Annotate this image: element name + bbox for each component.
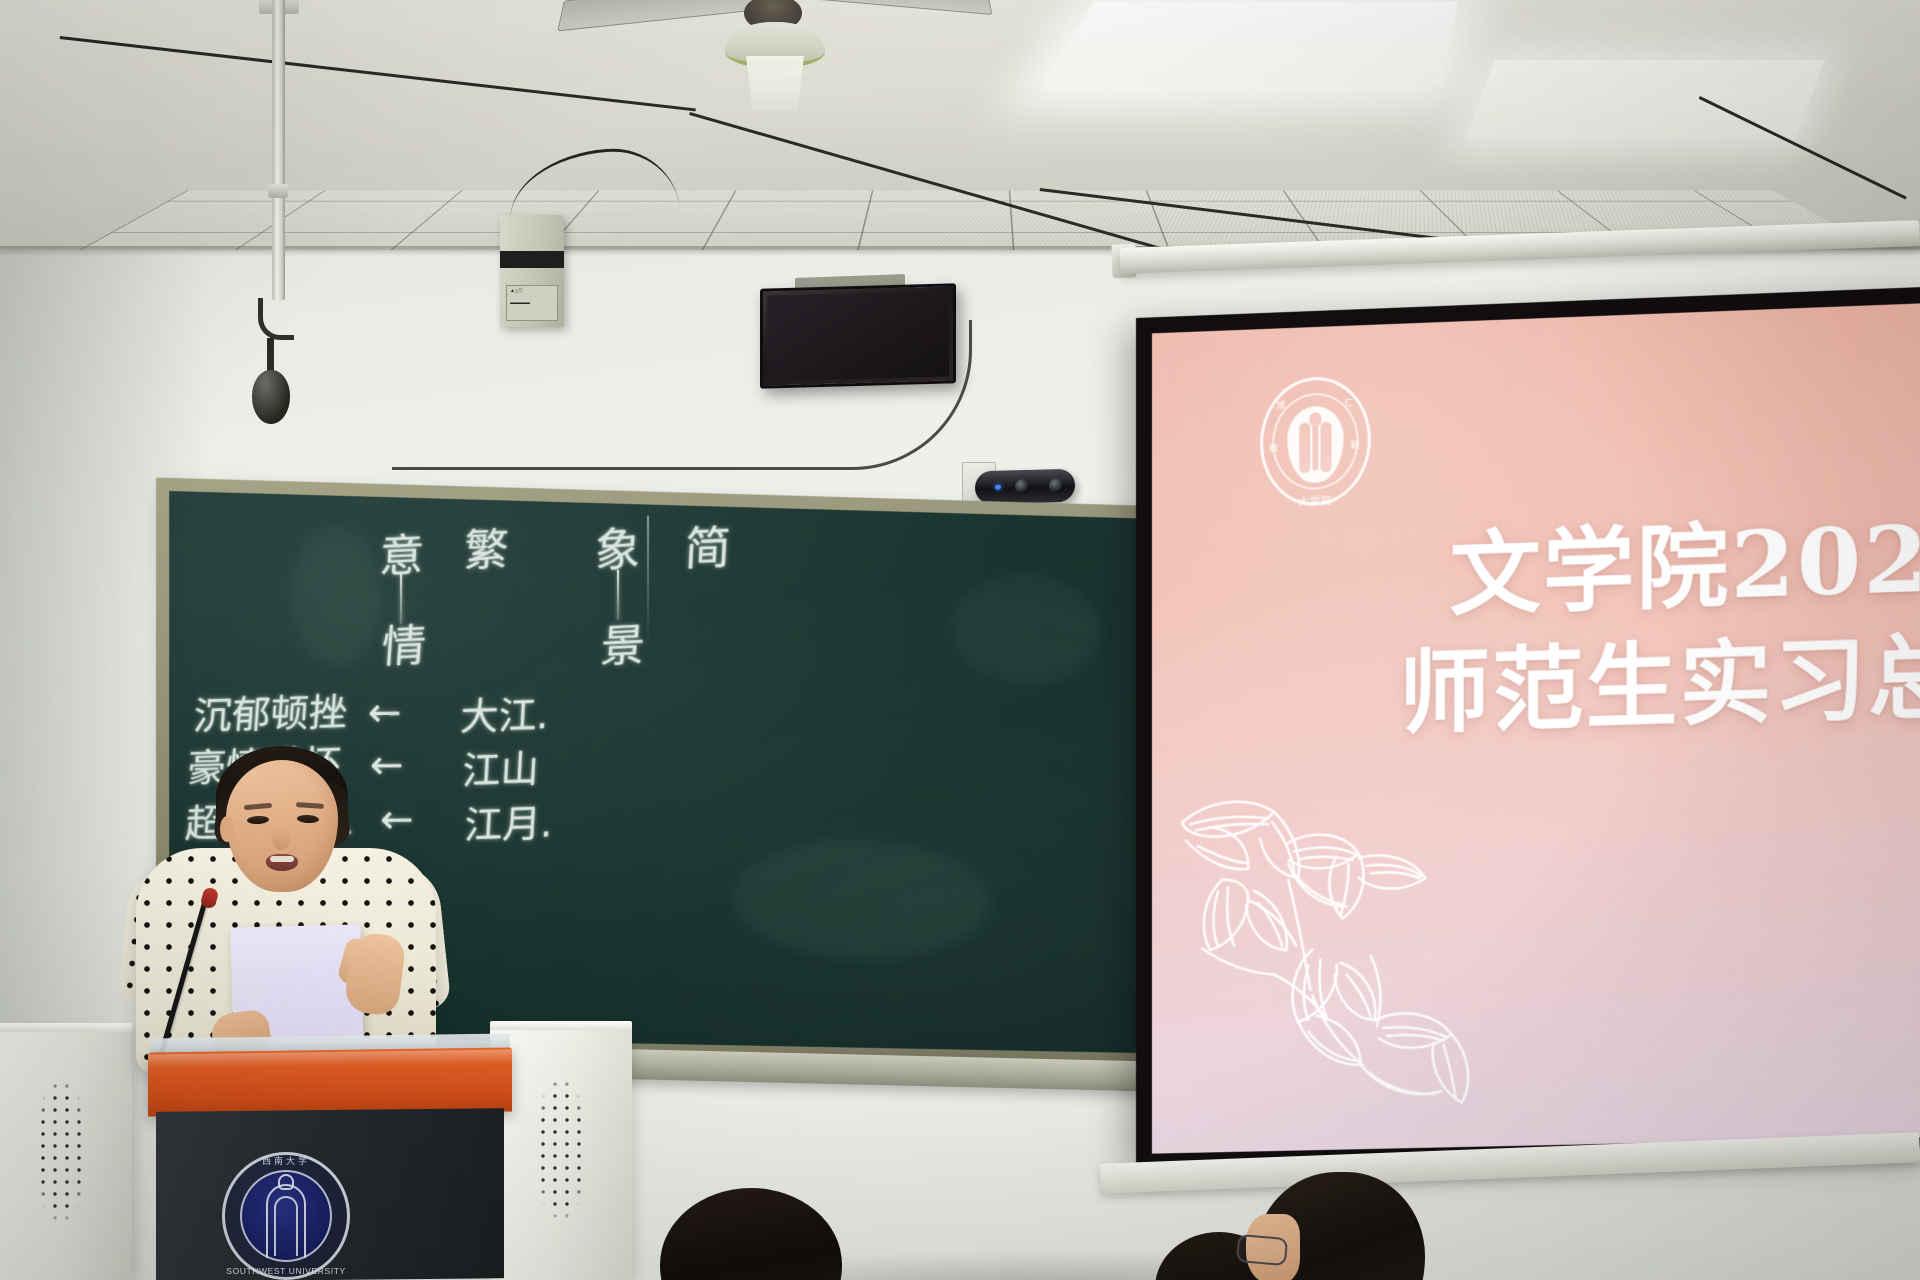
board-smudge-1 [291,525,382,668]
board-chalk-streak [647,515,649,644]
speaker-left-top [0,1023,132,1032]
podium-logo-gate-inner [274,1196,298,1256]
chalk-emotion-1: 沉郁顿挫 [192,681,350,741]
control-box-label: ▲△▽ ▬▬▬▬ [506,285,558,321]
classroom-scene: ▲△▽ ▬▬▬▬ 意 繁 象 简 情 景 [0,0,1920,1280]
emblem-char-bo: 博 [1276,398,1285,411]
ceiling-lamp-glass [742,56,808,110]
chalk-char-jing: 景 [599,609,647,675]
podium-logo-chinese-name: 西南大学 [222,1154,350,1167]
podium-university-logo-icon: 西南大学 SOUTHWEST UNIVERSITY [222,1152,350,1280]
audience-right-glasses-icon [1236,1234,1288,1266]
chalk-image-1: 大江. [459,684,550,742]
ceiling-panel-light-2 [1465,60,1824,140]
emblem-notch-right [1320,422,1331,473]
hanging-microphone [252,370,290,424]
emblem-bottom-text: 大学院 [1260,491,1371,510]
chalk-image-3: 江月. [463,792,554,850]
ceiling-panel-light-1 [1043,1,1458,85]
speaker-right-top [490,1021,632,1030]
podium-front-band[interactable] [148,1047,512,1116]
projection-screen: 博 仁 敏 毅 大学院 [1136,286,1920,1164]
emblem-char-yi: 毅 [1351,438,1360,451]
presenter [120,740,450,1070]
camera-cord [392,320,972,470]
magnolia-decoration-icon [1162,750,1596,1153]
slide-title-line-1: 文学院2025 [1450,500,1920,632]
podium-logo-cap [278,1174,294,1190]
slide-title-line-2: 师范生实习总 [1399,619,1920,750]
projected-slide: 博 仁 敏 毅 大学院 [1152,303,1920,1154]
chalk-char-jian: 简 [683,511,732,579]
mic-pole-joint [268,184,288,198]
slide-emblem-icon: 博 仁 敏 毅 大学院 [1260,375,1371,508]
mic-drop-pole [272,0,285,300]
speaker-right-grille [525,1054,597,1244]
emblem-char-ren: 仁 [1345,396,1354,409]
control-box-band [500,251,564,268]
board-smudge-3 [951,573,1099,686]
board-smudge-2 [733,837,991,962]
presenter-teeth [270,856,294,862]
chalk-arrow-1: ← [367,690,402,737]
speaker-left-grille [25,1056,97,1246]
camera-lens-2 [1049,478,1064,493]
emblem-notch-left [1299,423,1310,474]
presenter-mouth [266,854,298,871]
podium-band-highlight [148,1049,512,1068]
camera-lens-1 [1015,479,1030,494]
wall-speaker-left [0,1030,132,1280]
chalk-image-2: 江山 [461,738,540,796]
presenter-ear [220,816,234,842]
chalk-char-qing: 情 [380,609,429,676]
wall-control-box: ▲△▽ ▬▬▬▬ [500,215,564,327]
emblem-char-min: 敏 [1269,441,1278,454]
camera-led [995,485,1001,490]
presenter-nose [272,826,290,850]
chalk-char-fan: 繁 [463,513,511,579]
camera-bar [975,469,1075,505]
podium-logo-english-name: SOUTHWEST UNIVERSITY [222,1266,350,1276]
emblem-center-slit [1312,424,1318,470]
emblem-head [1309,412,1321,427]
